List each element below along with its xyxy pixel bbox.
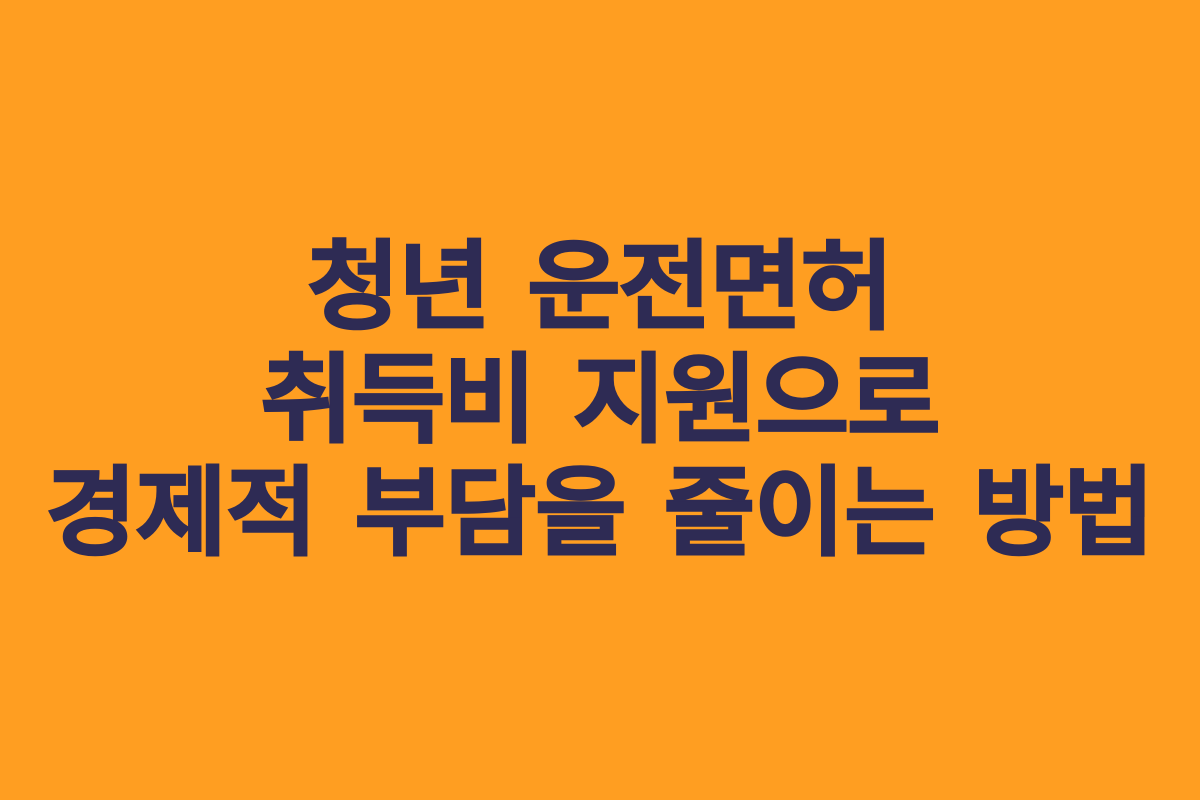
headline: 청년 운전면허 취득비 지원으로 경제적 부담을 줄이는 방법	[0, 231, 1200, 570]
poster-canvas: 청년 운전면허 취득비 지원으로 경제적 부담을 줄이는 방법	[0, 0, 1200, 800]
headline-line-3: 경제적 부담을 줄이는 방법	[0, 457, 1200, 570]
headline-line-1: 청년 운전면허	[0, 231, 1200, 344]
headline-line-2: 취득비 지원으로	[0, 344, 1200, 457]
